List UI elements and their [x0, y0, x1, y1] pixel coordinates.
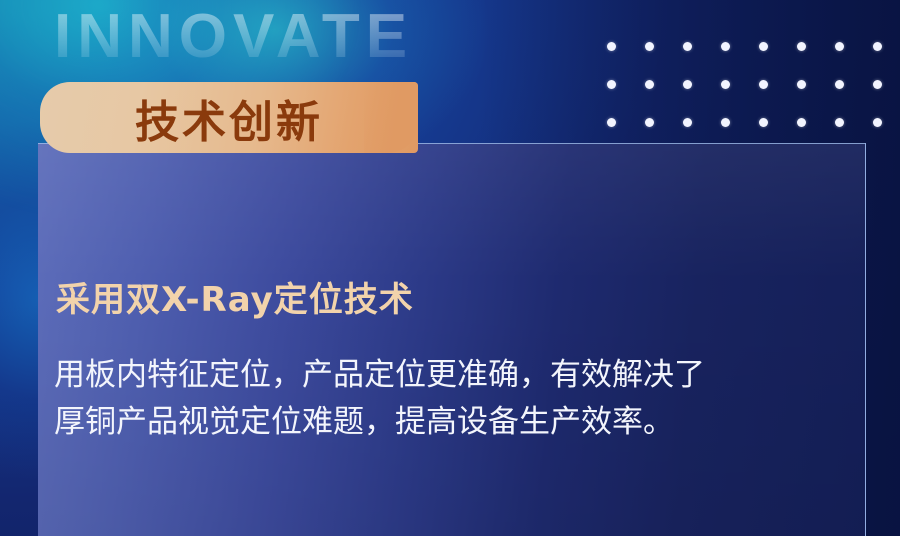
grid-dot	[683, 42, 692, 51]
dot-grid-decoration	[607, 42, 900, 156]
grid-dot	[873, 118, 882, 127]
card-body-line-2: 厚铜产品视觉定位难题，提高设备生产效率。	[54, 399, 864, 446]
watermark-innovate: INNOVATE	[54, 6, 413, 68]
grid-dot	[759, 80, 768, 89]
grid-dot	[835, 42, 844, 51]
grid-dot	[607, 118, 616, 127]
grid-dot	[607, 42, 616, 51]
grid-dot	[645, 42, 654, 51]
grid-dot	[835, 118, 844, 127]
grid-dot	[759, 42, 768, 51]
card-body-line-1: 用板内特征定位，产品定位更准确，有效解决了	[54, 352, 864, 399]
section-title-label: 技术创新	[135, 86, 323, 150]
content-card	[38, 143, 866, 536]
card-headline: 采用双X-Ray定位技术	[56, 272, 414, 321]
grid-dot	[721, 42, 730, 51]
grid-dot	[645, 118, 654, 127]
section-title-badge: 技术创新	[40, 82, 418, 153]
grid-dot	[873, 42, 882, 51]
grid-dot	[835, 80, 844, 89]
grid-dot	[683, 118, 692, 127]
grid-dot	[873, 80, 882, 89]
grid-dot	[797, 42, 806, 51]
grid-dot	[607, 80, 616, 89]
card-body: 用板内特征定位，产品定位更准确，有效解决了 厚铜产品视觉定位难题，提高设备生产效…	[54, 352, 864, 446]
grid-dot	[721, 118, 730, 127]
grid-dot	[797, 80, 806, 89]
grid-dot	[759, 118, 768, 127]
card-sheen	[38, 144, 865, 536]
grid-dot	[683, 80, 692, 89]
grid-dot	[797, 118, 806, 127]
slide-canvas: INNOVATE 技术创新 采用双X-Ray定位技术 用板内特征定位，产品定位	[0, 0, 900, 536]
grid-dot	[645, 80, 654, 89]
grid-dot	[721, 80, 730, 89]
